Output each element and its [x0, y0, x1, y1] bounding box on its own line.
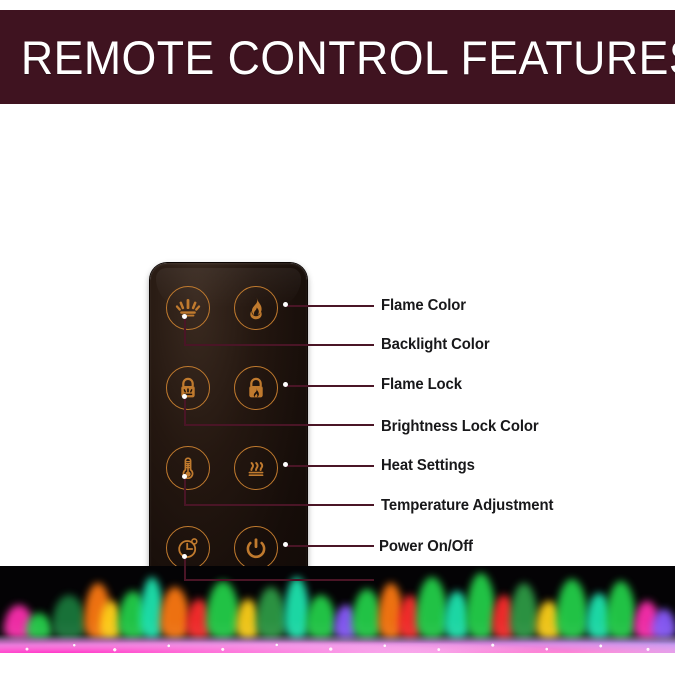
callout-line-flame-lock — [286, 385, 374, 387]
callout-label-flame-color: Flame Color — [381, 298, 466, 314]
callout-label-temperature: Temperature Adjustment — [381, 498, 553, 514]
lock-brightness-icon — [175, 375, 201, 401]
remote-button-backlight-color[interactable] — [166, 286, 210, 330]
callout-dot-timer — [182, 554, 187, 559]
bottom-white-margin — [0, 653, 675, 675]
remote-control-body — [150, 263, 307, 604]
page-title: REMOTE CONTROL FEATURES — [0, 34, 675, 81]
callout-label-backlight-color: Backlight Color — [381, 337, 490, 353]
remote-button-power[interactable] — [234, 526, 278, 570]
callout-dot-flame-color — [283, 302, 288, 307]
callout-label-power: Power On/Off — [379, 539, 473, 555]
power-icon — [243, 535, 269, 561]
callout-line-temperature-vertical — [184, 477, 186, 505]
callout-line-brightness-lock — [184, 424, 374, 426]
thermometer-icon — [175, 455, 201, 481]
callout-line-power — [286, 545, 374, 547]
callout-dot-backlight-color — [182, 314, 187, 319]
remote-feature-diagram: Flame Color Backlight Color Flame Lock B… — [0, 104, 675, 563]
callout-line-backlight-color — [184, 344, 374, 346]
callout-dot-brightness-lock — [182, 394, 187, 399]
callout-label-heat-settings: Heat Settings — [381, 458, 475, 474]
flame-icon — [244, 295, 268, 321]
callout-line-temperature — [184, 504, 374, 506]
callout-line-timer-vertical — [184, 557, 186, 580]
callout-line-heat-settings — [286, 465, 374, 467]
callout-line-timer — [184, 579, 374, 581]
callout-line-flame-color — [286, 305, 374, 307]
callout-label-flame-lock: Flame Lock — [381, 377, 462, 393]
callout-dot-flame-lock — [283, 382, 288, 387]
remote-button-programmable-timer[interactable] — [166, 526, 210, 570]
lock-flame-icon — [243, 375, 269, 401]
ember-sparkle-overlay — [0, 640, 675, 653]
callout-dot-temperature — [182, 474, 187, 479]
backlight-rays-icon — [175, 295, 201, 321]
header-banner: REMOTE CONTROL FEATURES — [0, 10, 675, 104]
callout-dot-power — [283, 542, 288, 547]
callout-line-backlight-color-vertical — [184, 317, 186, 345]
remote-button-flame-lock[interactable] — [234, 366, 278, 410]
remote-button-temperature-adjustment[interactable] — [166, 446, 210, 490]
remote-button-brightness-lock-color[interactable] — [166, 366, 210, 410]
clock-timer-icon — [175, 535, 201, 561]
callout-dot-heat-settings — [283, 462, 288, 467]
callout-label-brightness-lock: Brightness Lock Color — [381, 419, 539, 435]
heat-waves-icon — [243, 455, 269, 481]
remote-button-heat-settings[interactable] — [234, 446, 278, 490]
remote-button-flame-color[interactable] — [234, 286, 278, 330]
callout-line-brightness-lock-vertical — [184, 397, 186, 425]
